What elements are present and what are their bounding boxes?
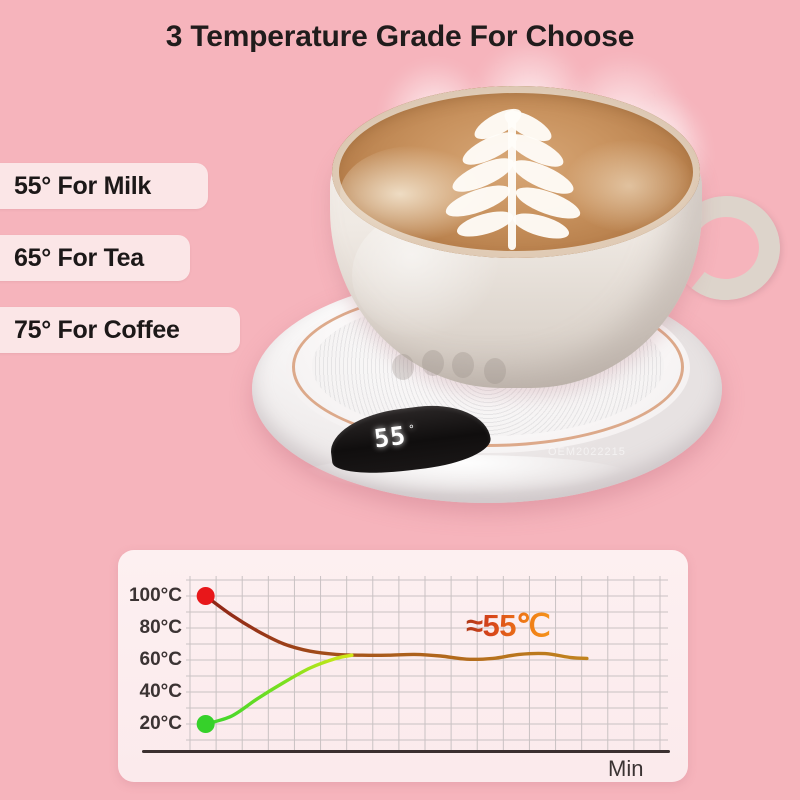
chart-plot-area: [190, 580, 660, 740]
y-axis-tick-label: 80°C: [140, 617, 182, 639]
led-degree-symbol: °: [408, 424, 416, 436]
product-marketing-image: 3 Temperature Grade For Choose OEM20: [0, 0, 800, 800]
temperature-badge-coffee[interactable]: 75° For Coffee: [0, 307, 240, 353]
target-temperature-annotation: ≈55℃: [466, 608, 550, 644]
cup-rim: [332, 86, 700, 258]
led-temperature-value: 55: [373, 423, 408, 452]
x-axis-label: Min: [608, 756, 643, 782]
y-axis-tick-label: 100°C: [129, 585, 182, 607]
badge-label: 75° For Coffee: [14, 316, 180, 345]
x-axis-line: [142, 750, 670, 753]
y-axis-tick-label: 60°C: [140, 649, 182, 671]
watermark-text: OEM2022215: [548, 446, 626, 458]
coffee-surface: [332, 86, 700, 258]
badge-label: 55° For Milk: [14, 172, 151, 201]
y-axis-ticks: 100°C80°C60°C40°C20°C: [118, 580, 188, 740]
badge-label: 65° For Tea: [14, 244, 144, 273]
cooling-start-marker: [197, 587, 215, 605]
y-axis-tick-label: 20°C: [140, 713, 182, 735]
led-display[interactable]: 55 °: [330, 408, 490, 470]
led-readout: 55 °: [373, 422, 417, 452]
y-axis-tick-label: 40°C: [140, 681, 182, 703]
temperature-badge-tea[interactable]: 65° For Tea: [0, 235, 190, 281]
heating-curve: [206, 655, 352, 724]
temperature-chart-panel: 100°C80°C60°C40°C20°C: [118, 550, 688, 782]
chart-curves: [190, 580, 660, 740]
cup-shadow-dots: [392, 348, 522, 388]
page-title: 3 Temperature Grade For Choose: [0, 20, 800, 54]
heating-start-marker: [197, 715, 215, 733]
temperature-badge-milk[interactable]: 55° For Milk: [0, 163, 208, 209]
